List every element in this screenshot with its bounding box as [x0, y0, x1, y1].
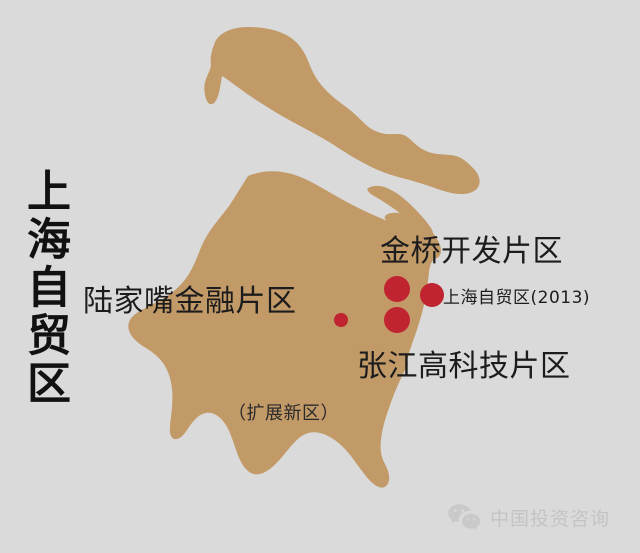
map-figure: 上海自贸区 陆家嘴金融片区 金桥开发片区 张江高科技片区 上海自贸区(2013)…: [0, 0, 640, 553]
label-jinqiao-development-zone: 金桥开发片区: [380, 226, 563, 270]
lujiazui-marker[interactable]: [334, 313, 348, 327]
label-zhangjiang-hitech-zone: 张江高科技片区: [357, 341, 571, 385]
wechat-icon: [447, 502, 481, 532]
watermark: 中国投资咨询: [447, 502, 610, 532]
label-ftz-2013: 上海自贸区(2013): [443, 283, 590, 308]
label-expansion-new-area: （扩展新区）: [228, 399, 339, 425]
waigaoqiao-marker[interactable]: [384, 276, 410, 302]
jinqiao-marker[interactable]: [420, 283, 444, 307]
label-lujiazui-financial-zone: 陆家嘴金融片区: [83, 276, 297, 320]
zhangjiang-marker[interactable]: [384, 307, 410, 333]
chongming-island-shape: [204, 27, 479, 194]
page-title: 上海自贸区: [22, 168, 66, 408]
watermark-text: 中国投资咨询: [490, 504, 610, 531]
